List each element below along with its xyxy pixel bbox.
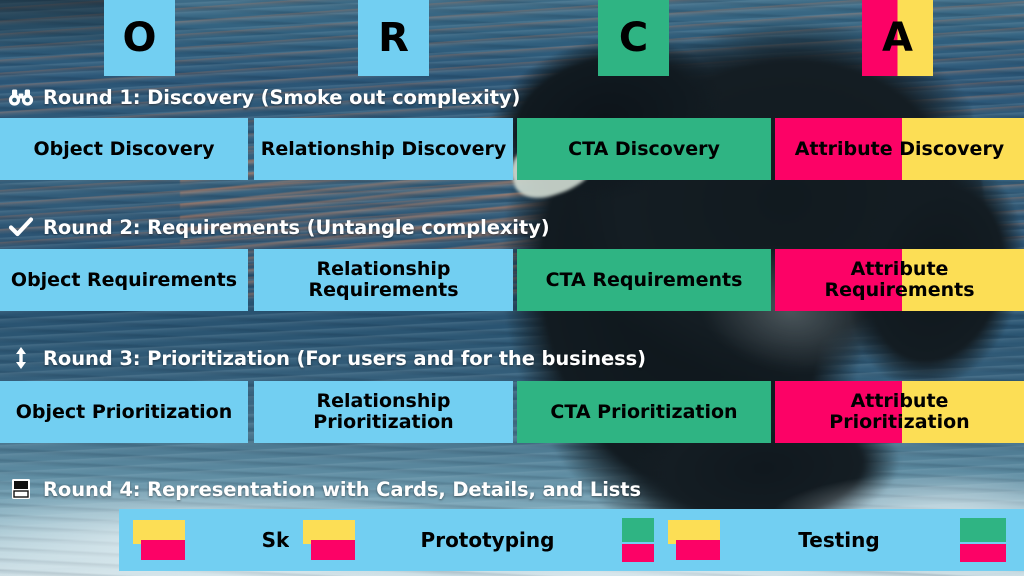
- cell-label: Attribute Prioritization: [829, 391, 969, 432]
- card-label: Prototyping: [355, 528, 620, 552]
- acronym-letter-a: A: [882, 18, 913, 58]
- cell-round2-relationship[interactable]: Relationship Requirements: [254, 249, 513, 311]
- yellow-pink-swatch-icon: [668, 518, 720, 562]
- green-pink-swatch-icon: [958, 518, 1010, 562]
- up-down-arrow-icon: [8, 345, 34, 371]
- cell-label: CTA Prioritization: [550, 402, 737, 423]
- cell-round3-relationship[interactable]: Relationship Prioritization: [254, 381, 513, 443]
- acronym-letter-c: C: [619, 18, 648, 58]
- round-4-header-text: Round 4: Representation with Cards, Deta…: [43, 478, 641, 501]
- yellow-pink-swatch-icon: [133, 518, 185, 562]
- round-1-header: Round 1: Discovery (Smoke out complexity…: [8, 82, 520, 112]
- round-2-header-text: Round 2: Requirements (Untangle complexi…: [43, 216, 550, 239]
- cell-round3-cta[interactable]: CTA Prioritization: [517, 381, 771, 443]
- swatch-pink: [141, 540, 185, 560]
- cell-label: Object Discovery: [33, 139, 214, 160]
- orca-acronym-row: O R C A: [0, 0, 1024, 76]
- cell-label: Relationship Requirements: [308, 259, 458, 300]
- cell-label: Relationship Discovery: [261, 139, 507, 160]
- slide-stage: O R C A: [0, 0, 1024, 576]
- cell-label: Attribute Discovery: [795, 139, 1004, 160]
- acronym-tile-a: A: [862, 0, 933, 76]
- binoculars-icon: [8, 84, 34, 110]
- cell-round2-object[interactable]: Object Requirements: [0, 249, 248, 311]
- round-4-band: Sketching Prototyping: [0, 509, 1024, 571]
- card-testing[interactable]: Testing: [654, 509, 1024, 571]
- round-3-header: Round 3: Prioritization (For users and f…: [8, 343, 646, 373]
- round-2-band: Object Requirements Relationship Require…: [0, 249, 1024, 311]
- cell-label: CTA Requirements: [546, 270, 743, 291]
- acronym-letter-r: R: [378, 18, 409, 58]
- yellow-pink-swatch-icon: [303, 518, 355, 562]
- cell-round1-relationship[interactable]: Relationship Discovery: [254, 118, 513, 180]
- acronym-tile-r: R: [358, 0, 429, 76]
- swatch-pink: [676, 540, 720, 560]
- round-1-band: Object Discovery Relationship Discovery …: [0, 118, 1024, 180]
- acronym-tile-o: O: [104, 0, 175, 76]
- round-3-header-text: Round 3: Prioritization (For users and f…: [43, 347, 646, 370]
- acronym-letter-o: O: [122, 18, 156, 58]
- cell-round2-attribute[interactable]: Attribute Requirements: [775, 249, 1024, 311]
- acronym-tile-c: C: [598, 0, 669, 76]
- cell-label: Relationship Prioritization: [313, 391, 453, 432]
- round-1-header-text: Round 1: Discovery (Smoke out complexity…: [43, 86, 520, 109]
- cell-round1-cta[interactable]: CTA Discovery: [517, 118, 771, 180]
- swatch-green: [960, 518, 1006, 542]
- cell-round3-attribute[interactable]: Attribute Prioritization: [775, 381, 1024, 443]
- card-layout-icon: [8, 476, 34, 502]
- cell-label: Attribute Requirements: [824, 259, 974, 300]
- round-4-header: Round 4: Representation with Cards, Deta…: [8, 474, 641, 504]
- round-3-band: Object Prioritization Relationship Prior…: [0, 381, 1024, 443]
- cell-round2-cta[interactable]: CTA Requirements: [517, 249, 771, 311]
- cell-label: Object Requirements: [11, 270, 237, 291]
- checkmark-icon: [8, 214, 34, 240]
- cell-round3-object[interactable]: Object Prioritization: [0, 381, 248, 443]
- card-prototyping[interactable]: Prototyping: [289, 509, 686, 571]
- card-label: Testing: [720, 528, 958, 552]
- cell-label: Object Prioritization: [16, 402, 233, 423]
- cell-round1-attribute[interactable]: Attribute Discovery: [775, 118, 1024, 180]
- cell-label: CTA Discovery: [568, 139, 720, 160]
- round-2-header: Round 2: Requirements (Untangle complexi…: [8, 212, 550, 242]
- swatch-pink: [960, 544, 1006, 562]
- slide-content: O R C A: [0, 0, 1024, 576]
- swatch-pink: [311, 540, 355, 560]
- cell-round1-object[interactable]: Object Discovery: [0, 118, 248, 180]
